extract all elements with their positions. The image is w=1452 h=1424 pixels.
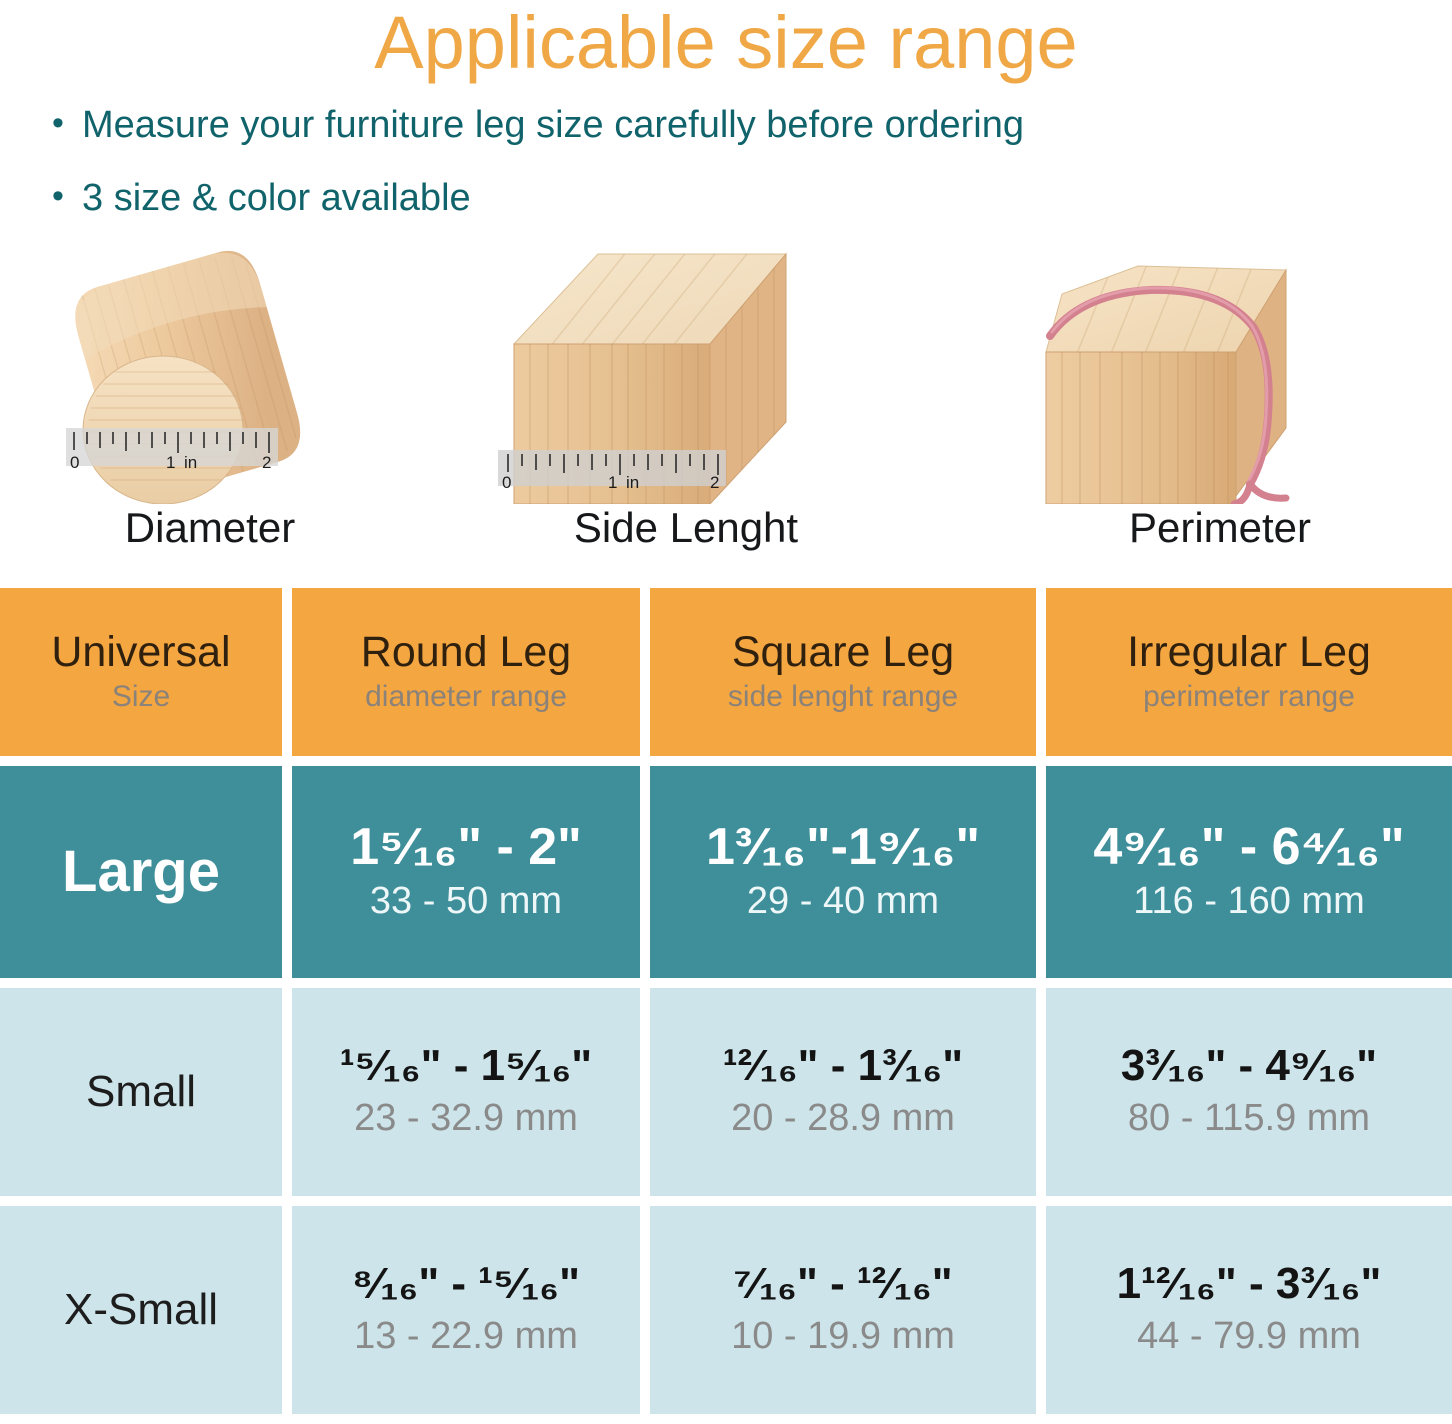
svg-text:in: in [626,473,639,492]
value-mm: 20 - 28.9 mm [731,1098,955,1140]
svg-text:in: in [184,453,197,472]
value-inches: 1⁵⁄₁₆" - 2" [350,821,582,873]
value-inches: ⁸⁄₁₆" - ¹⁵⁄₁₆" [352,1262,580,1306]
table-cell-irregular-leg: 1¹²⁄₁₆" - 3³⁄₁₆" 44 - 79.9 mm [1046,1206,1452,1414]
size-range-table: Universal Size Round Leg diameter range … [0,588,1452,1424]
table-header-cell-irregular-leg: Irregular Leg perimeter range [1046,588,1452,756]
table-cell-round-leg: ¹⁵⁄₁₆" - 1⁵⁄₁₆" 23 - 32.9 mm [292,988,640,1196]
illustration-label-diameter: Diameter [0,504,420,552]
value-mm: 23 - 32.9 mm [354,1098,578,1140]
value-inches: 1¹²⁄₁₆" - 3³⁄₁₆" [1117,1262,1382,1306]
value-mm: 33 - 50 mm [370,881,562,923]
header-sub: diameter range [365,680,567,715]
table-cell-irregular-leg: 4⁹⁄₁₆" - 6⁴⁄₁₆" 116 - 160 mm [1046,766,1452,978]
size-label: Small [86,1070,196,1114]
svg-text:1: 1 [608,473,617,492]
table-cell-size-name: Small [0,988,282,1196]
page-title: Applicable size range [0,4,1452,82]
table-row: Small ¹⁵⁄₁₆" - 1⁵⁄₁₆" 23 - 32.9 mm ¹²⁄₁₆… [0,988,1452,1196]
value-inches: ⁷⁄₁₆" - ¹²⁄₁₆" [733,1262,952,1306]
ruler-overlay: 0 1 in 2 [66,428,278,472]
svg-text:2: 2 [262,453,271,472]
table-row: Large 1⁵⁄₁₆" - 2" 33 - 50 mm 1³⁄₁₆"-1⁹⁄₁… [0,766,1452,978]
header-sub: side lenght range [728,680,958,715]
irregular-wood-leg-icon [1010,232,1430,504]
illustration-label-perimeter: Perimeter [1010,504,1430,552]
value-mm: 13 - 22.9 mm [354,1316,578,1358]
bullet-text: Measure your furniture leg size carefull… [82,104,1024,147]
illustration-row: 0 1 in 2 Diameter [0,232,1452,572]
value-inches: 1³⁄₁₆"-1⁹⁄₁₆" [706,821,980,873]
value-inches: ¹²⁄₁₆" - 1³⁄₁₆" [723,1044,963,1088]
table-row: X-Small ⁸⁄₁₆" - ¹⁵⁄₁₆" 13 - 22.9 mm ⁷⁄₁₆… [0,1206,1452,1414]
list-item: • 3 size & color available [52,177,1432,220]
header-main: Universal [51,630,230,676]
size-label: Large [62,843,220,901]
illustration-diameter: 0 1 in 2 Diameter [0,232,420,572]
bullet-text: 3 size & color available [82,177,471,220]
svg-text:0: 0 [70,453,79,472]
table-cell-round-leg: 1⁵⁄₁₆" - 2" 33 - 50 mm [292,766,640,978]
value-mm: 80 - 115.9 mm [1128,1098,1370,1140]
value-mm: 29 - 40 mm [747,881,939,923]
table-cell-square-leg: 1³⁄₁₆"-1⁹⁄₁₆" 29 - 40 mm [650,766,1036,978]
table-cell-size-name: X-Small [0,1206,282,1414]
round-wood-leg-icon: 0 1 in 2 [0,232,420,504]
table-cell-round-leg: ⁸⁄₁₆" - ¹⁵⁄₁₆" 13 - 22.9 mm [292,1206,640,1414]
value-inches: ¹⁵⁄₁₆" - 1⁵⁄₁₆" [340,1044,592,1088]
square-wood-leg-icon: 0 1 in 2 [476,232,896,504]
size-label: X-Small [64,1288,218,1332]
svg-text:2: 2 [710,473,719,492]
svg-text:1: 1 [166,453,175,472]
header-main: Round Leg [361,630,571,676]
table-cell-square-leg: ⁷⁄₁₆" - ¹²⁄₁₆" 10 - 19.9 mm [650,1206,1036,1414]
header-main: Square Leg [732,630,954,676]
table-cell-irregular-leg: 3³⁄₁₆" - 4⁹⁄₁₆" 80 - 115.9 mm [1046,988,1452,1196]
header-main: Irregular Leg [1127,630,1371,676]
illustration-perimeter: Perimeter [1010,232,1430,572]
table-header-cell-universal-size: Universal Size [0,588,282,756]
header-sub: perimeter range [1143,680,1355,715]
list-item: • Measure your furniture leg size carefu… [52,104,1432,147]
table-cell-size-name: Large [0,766,282,978]
header-sub: Size [112,680,170,715]
value-inches: 3³⁄₁₆" - 4⁹⁄₁₆" [1121,1044,1377,1088]
illustration-side-length: 0 1 in 2 Side Lenght [476,232,896,572]
value-mm: 44 - 79.9 mm [1137,1316,1361,1358]
table-header-cell-round-leg: Round Leg diameter range [292,588,640,756]
bullet-list: • Measure your furniture leg size carefu… [52,104,1432,249]
table-cell-square-leg: ¹²⁄₁₆" - 1³⁄₁₆" 20 - 28.9 mm [650,988,1036,1196]
svg-text:0: 0 [502,473,511,492]
bullet-dot-icon: • [52,104,82,143]
value-inches: 4⁹⁄₁₆" - 6⁴⁄₁₆" [1093,821,1404,873]
table-header-row: Universal Size Round Leg diameter range … [0,588,1452,756]
value-mm: 116 - 160 mm [1133,881,1365,923]
table-header-cell-square-leg: Square Leg side lenght range [650,588,1036,756]
bullet-dot-icon: • [52,177,82,216]
illustration-label-side-length: Side Lenght [476,504,896,552]
value-mm: 10 - 19.9 mm [731,1316,955,1358]
ruler-overlay: 0 1 in 2 [498,450,726,492]
